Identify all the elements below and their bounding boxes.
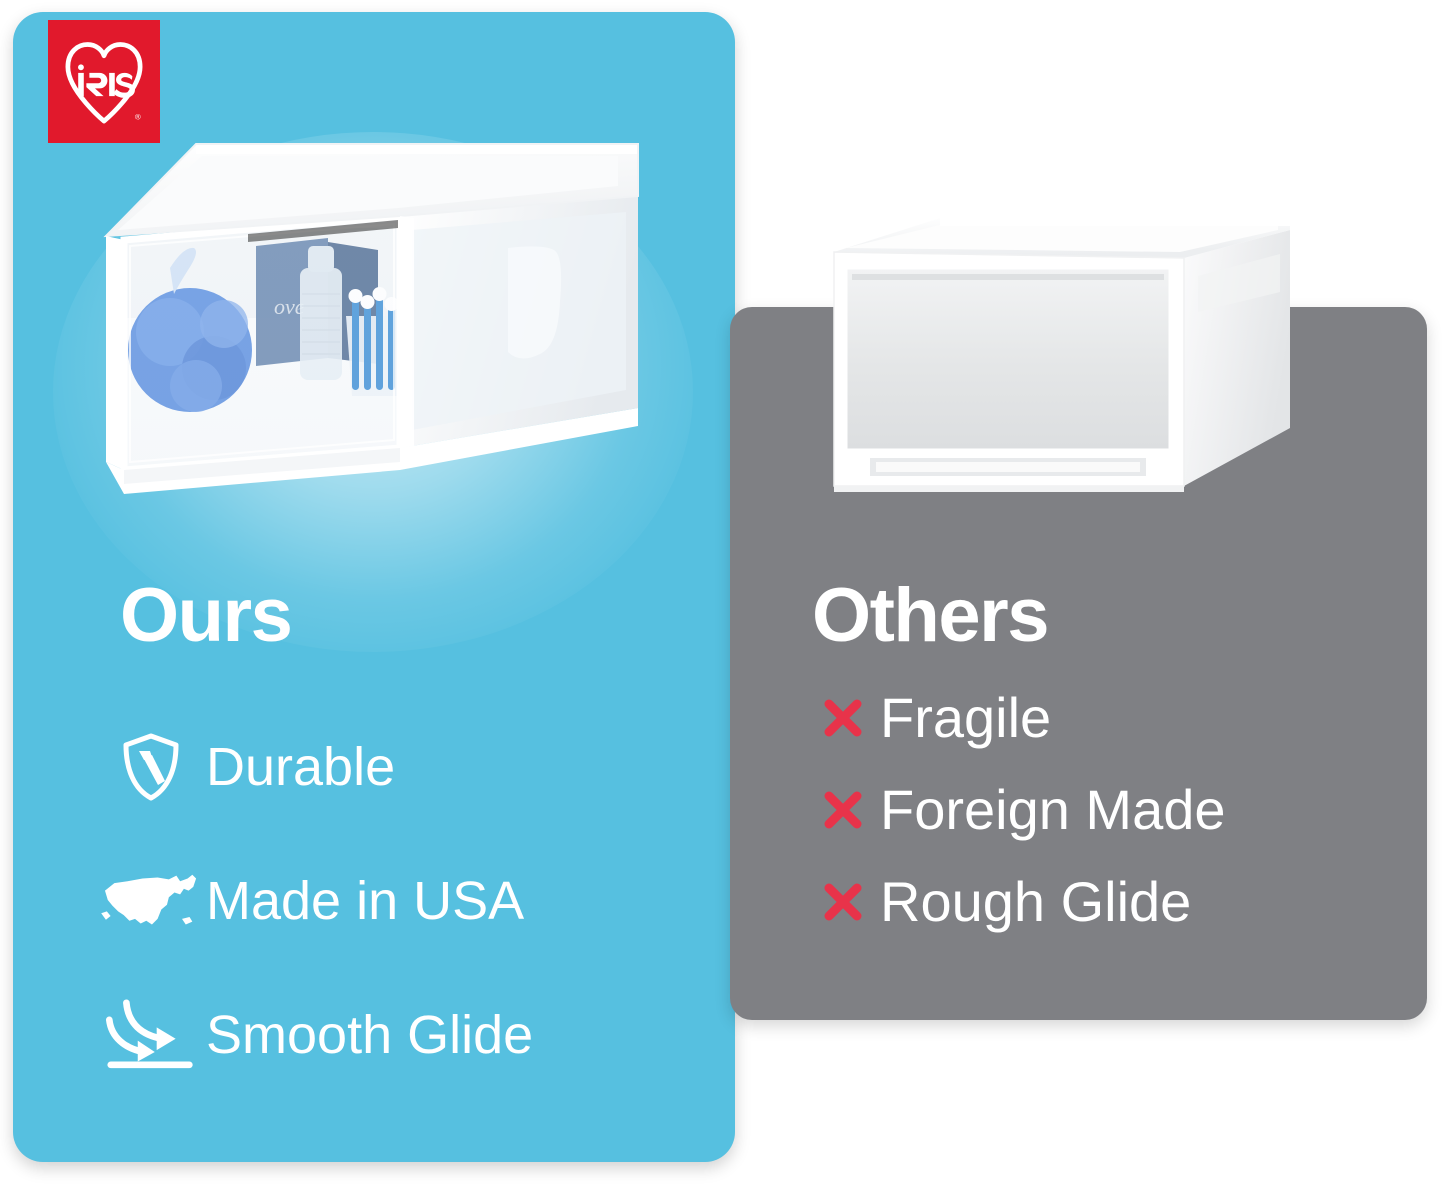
feature-label: Smooth Glide (206, 1008, 533, 1062)
ours-heading: Ours (120, 578, 291, 654)
feature-row-foreign-made: Foreign Made (806, 764, 1426, 856)
ours-product-image: ove (78, 118, 678, 538)
red-x-icon (806, 687, 880, 749)
feature-label: Foreign Made (880, 782, 1226, 838)
others-feature-list: Fragile Foreign Made (806, 672, 1426, 948)
comparison-infographic: ® (0, 0, 1445, 1187)
ours-feature-list: Durable Made in USA (96, 700, 696, 1102)
red-x-icon (806, 871, 880, 933)
feature-row-durable: Durable (96, 700, 696, 834)
feature-row-smooth-glide: Smooth Glide (96, 968, 696, 1102)
red-x-icon (806, 779, 880, 841)
feature-row-rough-glide: Rough Glide (806, 856, 1426, 948)
others-heading: Others (812, 578, 1048, 654)
feature-label: Rough Glide (880, 874, 1191, 930)
feature-row-fragile: Fragile (806, 672, 1426, 764)
smooth-glide-arrows-icon (96, 990, 206, 1080)
shield-hammer-icon (96, 722, 206, 812)
usa-map-icon (96, 856, 206, 946)
others-product-image (812, 196, 1312, 516)
feature-label: Fragile (880, 690, 1051, 746)
feature-label: Made in USA (206, 874, 524, 928)
feature-row-made-in-usa: Made in USA (96, 834, 696, 968)
feature-label: Durable (206, 740, 395, 794)
